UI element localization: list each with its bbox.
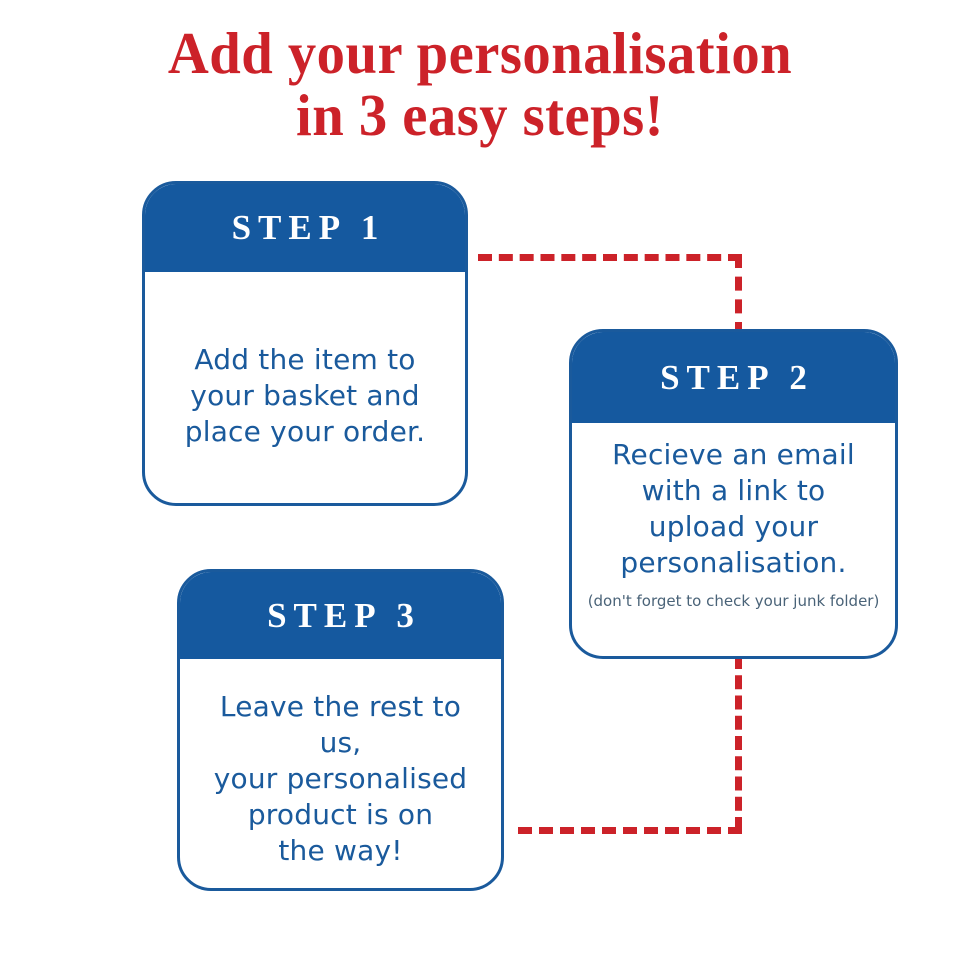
connector-step1-to-step2-vertical	[735, 254, 742, 336]
step-1-body-line-2: your basket and	[190, 378, 419, 414]
step-3-body-line-2: your personalised	[214, 761, 468, 797]
step-2-body-line-4: personalisation.	[620, 545, 846, 581]
step-card-2: STEP 2 Recieve an email with a link to u…	[569, 329, 898, 659]
page-title: Add your personalisation in 3 easy steps…	[19, 22, 941, 146]
step-2-body: Recieve an email with a link to upload y…	[572, 423, 895, 656]
step-2-header: STEP 2	[572, 332, 895, 423]
page-title-line-2: in 3 easy steps!	[19, 84, 941, 146]
step-card-3: STEP 3 Leave the rest to us, your person…	[177, 569, 504, 891]
step-1-body: Add the item to your basket and place yo…	[145, 272, 465, 503]
step-3-body-line-4: the way!	[278, 833, 402, 869]
step-2-body-line-3: upload your	[649, 509, 818, 545]
step-1-body-line-3: place your order.	[185, 414, 425, 450]
step-3-body-line-3: product is on	[248, 797, 433, 833]
step-2-note: (don't forget to check your junk folder)	[588, 591, 880, 611]
connector-step2-to-step3-horizontal	[518, 827, 742, 834]
connector-step1-to-step2-horizontal	[478, 254, 742, 261]
poster-canvas: Add your personalisation in 3 easy steps…	[0, 0, 960, 960]
page-title-line-1: Add your personalisation	[19, 22, 941, 84]
step-3-header: STEP 3	[180, 572, 501, 659]
step-card-1: STEP 1 Add the item to your basket and p…	[142, 181, 468, 506]
step-2-body-line-1: Recieve an email	[612, 437, 855, 473]
step-3-body-line-1: Leave the rest to us,	[196, 689, 485, 761]
connector-step2-to-step3-vertical	[735, 655, 742, 831]
step-3-body: Leave the rest to us, your personalised …	[180, 659, 501, 888]
step-1-header: STEP 1	[145, 184, 465, 272]
step-1-body-line-1: Add the item to	[194, 342, 415, 378]
step-2-body-line-2: with a link to	[642, 473, 826, 509]
